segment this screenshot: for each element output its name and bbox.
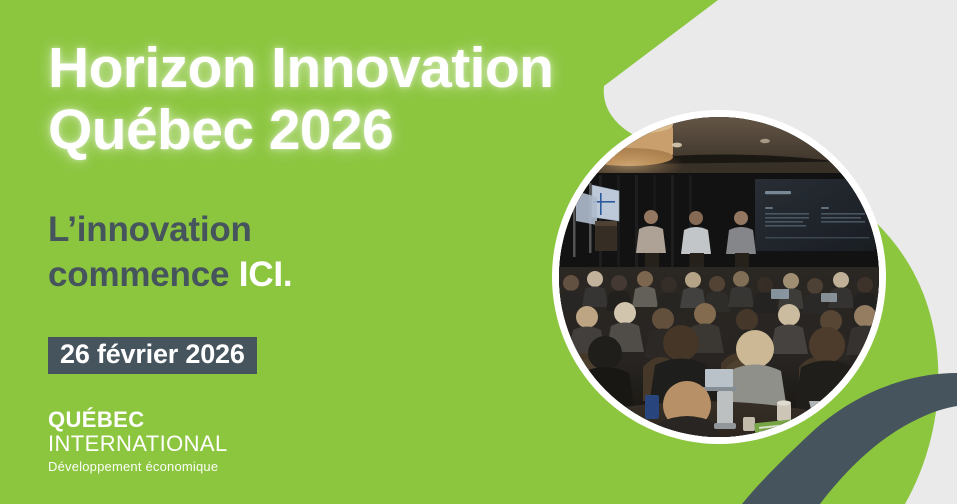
banner-text-column: Horizon Innovation Québec 2026 L’innovat… — [48, 0, 608, 504]
tagline-line-2-prefix: commence — [48, 255, 239, 294]
tagline-accent: ICI. — [239, 255, 293, 294]
quebec-international-logo: QUÉBEC INTERNATIONAL Développement écono… — [48, 408, 228, 474]
page-title: Horizon Innovation Québec 2026 — [48, 38, 608, 161]
logo-line-international: INTERNATIONAL — [48, 432, 228, 456]
logo-tagline: Développement économique — [48, 460, 228, 474]
headline-line-1: Horizon Innovation — [48, 38, 608, 100]
headline-line-2: Québec 2026 — [48, 100, 608, 162]
tagline-line-2: commence ICI. — [48, 253, 608, 298]
event-banner: Horizon Innovation Québec 2026 L’innovat… — [0, 0, 957, 504]
tagline-line-1: L’innovation — [48, 208, 608, 253]
event-date-badge: 26 février 2026 — [48, 337, 257, 374]
tagline: L’innovation commence ICI. — [48, 208, 608, 298]
logo-line-quebec: QUÉBEC — [48, 408, 228, 432]
